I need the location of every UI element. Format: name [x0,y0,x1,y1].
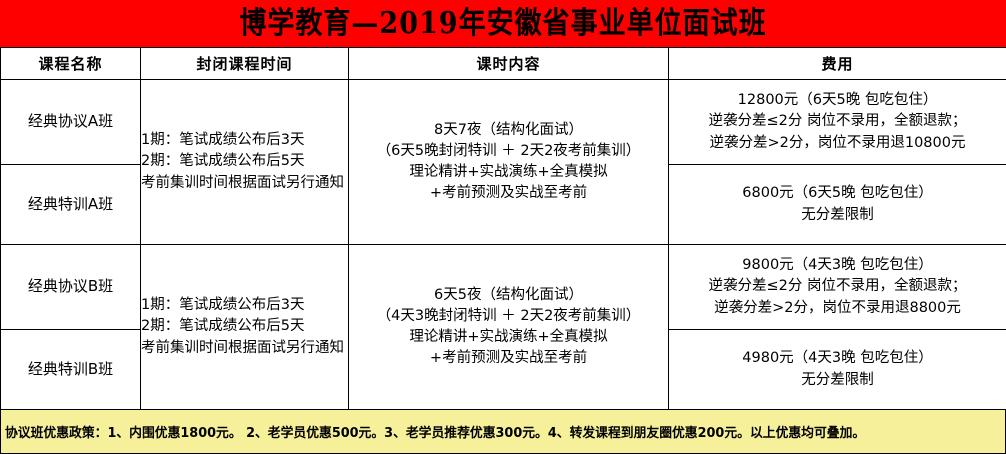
column-header-closed-course-time: 封闭课程时间 [141,48,349,80]
column-header-fee: 费用 [669,48,1006,80]
fee-b-agreement: 9800元（4天3晚 包吃包住）逆袭分差≤2分 岗位不录用，全额退款；逆袭分差>… [669,245,1006,330]
table-header-row: 课程名称 封闭课程时间 课时内容 费用 [1,48,1006,80]
course-name-a-training: 经典特训A班 [1,165,141,245]
fee-a-agreement: 12800元（6天5晚 包吃包住）逆袭分差≤2分 岗位不录用，全额退款；逆袭分差… [669,80,1006,165]
title-banner: 博学教育—2019年安徽省事业单位面试班 [0,0,1006,47]
course-name-b-training: 经典特训B班 [1,330,141,410]
course-table: 课程名称 封闭课程时间 课时内容 费用 经典协议A班 1期：笔试成绩公布后3天2… [0,47,1006,410]
column-header-course-name: 课程名称 [1,48,141,80]
course-price-poster: 博学教育—2019年安徽省事业单位面试班 课程名称 封闭课程时间 课时内容 费用… [0,0,1006,454]
column-header-class-content: 课时内容 [349,48,669,80]
fee-b-training: 4980元（4天3晚 包吃包住）无分差限制 [669,330,1006,410]
schedule-b-group: 1期：笔试成绩公布后3天2期：笔试成绩公布后5天考前集训时间根据面试另行通知 [141,245,349,410]
discount-policy-text: 协议班优惠政策：1、内围优惠1800元。 2、老学员优惠500元。3、老学员推荐… [5,422,865,441]
discount-policy-note: 协议班优惠政策：1、内围优惠1800元。 2、老学员优惠500元。3、老学员推荐… [0,410,1006,454]
course-name-b-agreement: 经典协议B班 [1,245,141,330]
page-title: 博学教育—2019年安徽省事业单位面试班 [239,8,766,38]
table-row: 经典协议A班 1期：笔试成绩公布后3天2期：笔试成绩公布后5天考前集训时间根据面… [1,80,1006,165]
fee-a-training: 6800元（6天5晚 包吃包住）无分差限制 [669,165,1006,245]
course-name-a-agreement: 经典协议A班 [1,80,141,165]
table-row: 经典协议B班 1期：笔试成绩公布后3天2期：笔试成绩公布后5天考前集训时间根据面… [1,245,1006,330]
schedule-a-group: 1期：笔试成绩公布后3天2期：笔试成绩公布后5天考前集训时间根据面试另行通知 [141,80,349,245]
content-b-group: 6天5夜（结构化面试）（4天3晚封闭特训 ＋ 2天2夜考前集训）理论精讲+实战演… [349,245,669,410]
content-a-group: 8天7夜（结构化面试）（6天5晚封闭特训 ＋ 2天2夜考前集训）理论精讲+实战演… [349,80,669,245]
